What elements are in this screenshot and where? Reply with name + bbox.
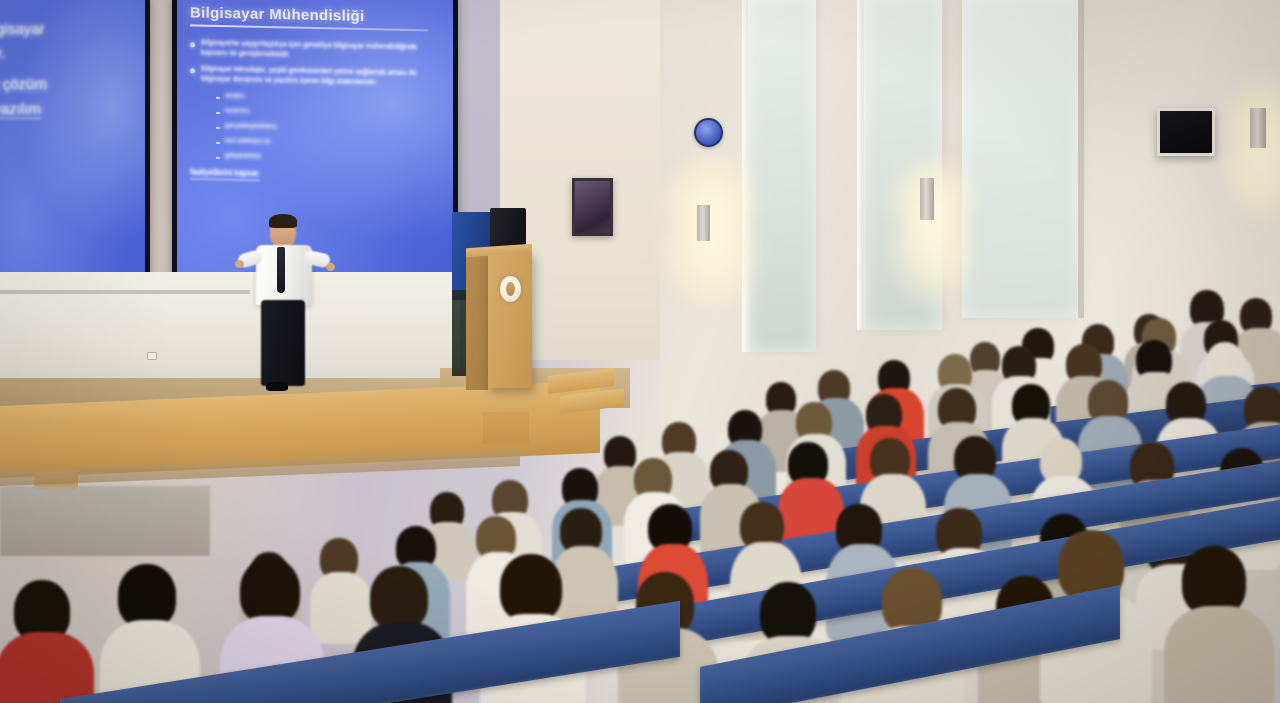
slide-subbullet-1: analizi, [225, 92, 246, 101]
slide-subbullet-2: tasarımı, [225, 107, 251, 116]
subbullet-marker [216, 112, 220, 114]
glass-bay-3 [962, 0, 1080, 318]
attendee-body [0, 632, 94, 703]
attendee-head [500, 554, 562, 622]
podium-side [466, 250, 488, 390]
left-slide-line-1: rdikçe bilgisayar [0, 21, 142, 38]
slide-subbullet-5: geliştirilmesi [225, 152, 261, 162]
subbullet-marker [216, 97, 220, 99]
left-slide-line-3: blemlere çözüm [0, 76, 142, 93]
speaker-trousers [261, 300, 305, 386]
bullet-marker [190, 69, 195, 74]
speaker-hair [269, 214, 297, 228]
glass-bay-2-edge [857, 0, 866, 330]
podium [488, 252, 532, 388]
slide-bullet-1: Bilgisayarlar yaygınlaştıkça içen gerekl… [201, 39, 443, 63]
slide-subbullet-3: gerçekleştirilmesi, [225, 122, 277, 132]
sconce-2-body [920, 178, 934, 220]
subbullet-marker [216, 142, 220, 144]
attendee-head [370, 566, 428, 630]
podium-crest-inner [506, 282, 515, 296]
speaker-hand-right [326, 263, 335, 271]
stage-wall-trim [0, 290, 250, 294]
attendee-head [760, 582, 816, 644]
podium-crest [500, 276, 521, 302]
speaker-hand-left [235, 260, 244, 268]
stage-back-wall [0, 272, 460, 384]
subbullet-marker [216, 157, 220, 159]
left-projection-screen: rdikçe bilgisayar lemektedir. blemlere ç… [0, 0, 145, 281]
left-slide-line-2: lemektedir. [0, 45, 142, 62]
attendee-head [118, 564, 176, 628]
speaker-tie [277, 247, 285, 293]
slide-subbullet-4: test edilmesi ve [225, 137, 270, 147]
lecture-hall-photo: rdikçe bilgisayar lemektedir. blemlere ç… [0, 0, 1280, 703]
sconce-1-downlight [657, 218, 765, 312]
wall-outlet [147, 352, 157, 360]
left-slide-line-4: lanı ve yazılım [0, 101, 41, 119]
attendee-body [1164, 606, 1274, 703]
sconce-2-downlight [888, 212, 978, 310]
glass-bay-3-mullion [1078, 0, 1084, 318]
speaker [236, 216, 346, 398]
sconce-3-body [1250, 108, 1266, 148]
bullet-marker [190, 42, 195, 47]
slide-footer: faaliyetlerini kapsar. [190, 167, 260, 180]
framed-portrait [572, 178, 613, 236]
wall-monitor [1157, 108, 1215, 156]
aisle-floor [0, 486, 210, 556]
slide-bullet-2: Bilgisayar teknolojisi, çeşitli gereksin… [201, 65, 443, 89]
wall-clock [694, 118, 723, 147]
left-screen-frame: rdikçe bilgisayar lemektedir. blemlere ç… [0, 0, 150, 286]
speaker-shoe [266, 382, 288, 391]
attendee-head [240, 558, 300, 624]
slide-title: Bilgisayar Mühendisliği [190, 4, 443, 26]
sconce-1-body [697, 205, 710, 241]
subbullet-marker [216, 127, 220, 129]
